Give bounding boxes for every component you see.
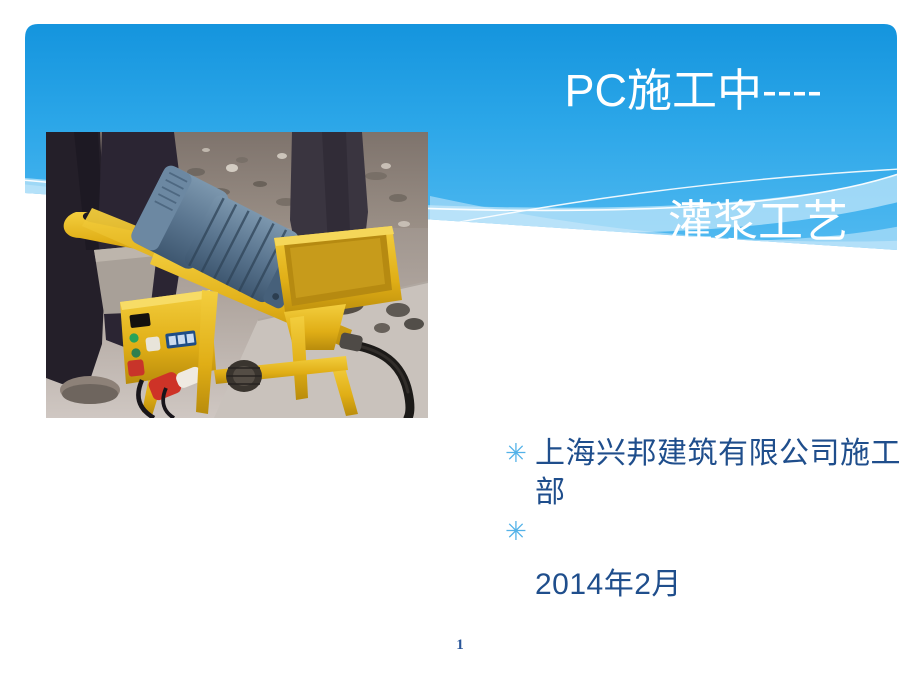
presentation-slide: PC施工中---- 灌浆工艺 [0, 0, 920, 690]
bullet-line-company: ✳ 上海兴邦建筑有限公司施工部 [505, 434, 905, 512]
company-name-text: 上海兴邦建筑有限公司施工部 [535, 434, 905, 512]
slide-page-number: 1 [0, 637, 920, 654]
slide-photo [46, 132, 428, 418]
asterisk-bullet-icon-2: ✳ [505, 512, 535, 551]
author-block: ✳ 上海兴邦建筑有限公司施工部 ✳ 2014年2月 [505, 434, 905, 604]
asterisk-bullet-icon: ✳ [505, 434, 535, 473]
presentation-date-text: 2014年2月 [505, 565, 905, 604]
bullet-line-empty: ✳ [505, 512, 905, 551]
